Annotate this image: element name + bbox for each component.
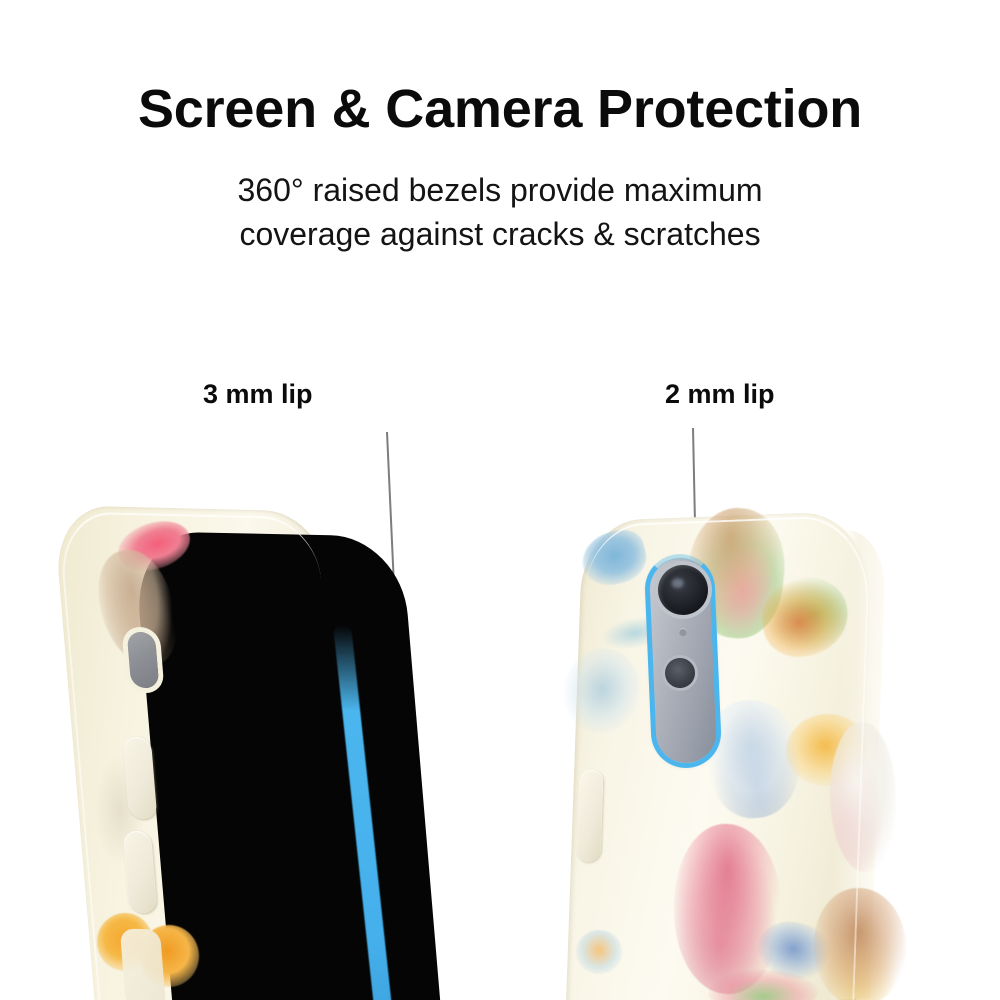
callout-label-2mm-lip: 2 mm lip (665, 379, 775, 410)
mute-switch-cutout (127, 632, 160, 689)
callout-label-3mm-lip: 3 mm lip (203, 379, 313, 410)
artwork-bear-cub (814, 888, 906, 1000)
subtitle-line-1: 360° raised bezels provide maximum (0, 168, 1000, 212)
side-button (577, 770, 604, 863)
product-feature-graphic: Screen & Camera Protection 360° raised b… (0, 0, 1000, 1000)
page-title: Screen & Camera Protection (0, 78, 1000, 140)
phone-case-back-view (548, 470, 878, 1000)
artwork-small-flower (576, 930, 622, 974)
case-lower-pad (120, 929, 167, 1000)
subtitle-line-2: coverage against cracks & scratches (0, 212, 1000, 256)
artwork-lamb (830, 722, 896, 872)
subtitle: 360° raised bezels provide maximum cover… (0, 168, 1000, 256)
microphone-icon (679, 628, 687, 636)
phone-case-front-profile (95, 505, 425, 1000)
